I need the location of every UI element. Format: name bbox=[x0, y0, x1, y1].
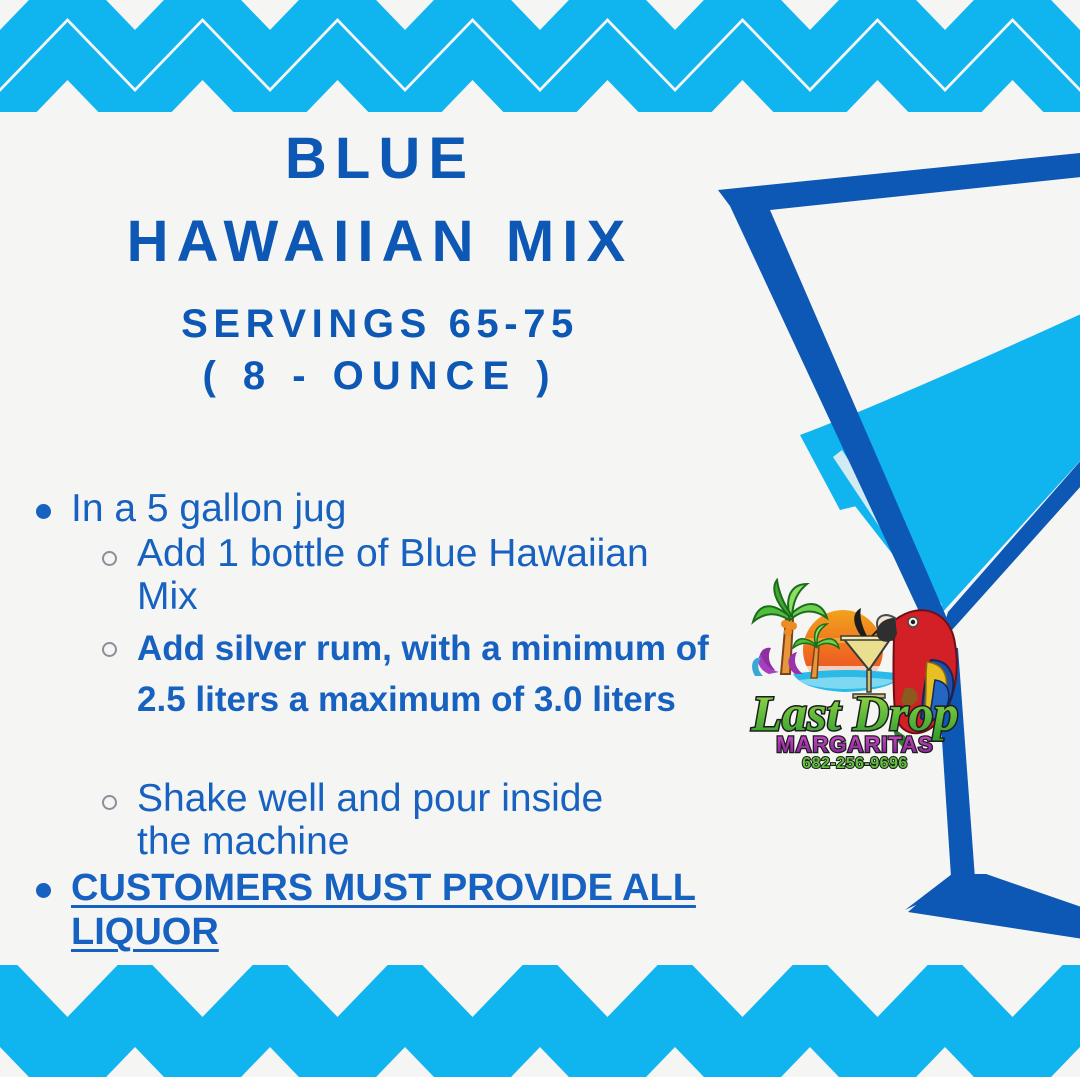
warning-line-2: LIQUOR bbox=[71, 911, 219, 953]
title-line-2: HAWAIIAN MIX bbox=[0, 211, 760, 272]
substep3-line1: Shake well and pour inside bbox=[137, 777, 603, 820]
substep-group: Add 1 bottle of Blue Hawaiian Mix Add si… bbox=[102, 533, 818, 864]
list-item-warning: CUSTOMERS MUST PROVIDE ALL LIQUOR bbox=[28, 866, 828, 955]
bullet-ring-icon bbox=[102, 795, 117, 810]
substep3-line2: the machine bbox=[137, 820, 349, 863]
title-line-1: BLUE bbox=[0, 128, 760, 189]
step1-text: In a 5 gallon jug bbox=[71, 487, 346, 531]
servings-label: SERVINGS 65-75 bbox=[0, 299, 760, 349]
list-item-substep1: Add 1 bottle of Blue Hawaiian Mix bbox=[102, 533, 818, 619]
serving-size-label: ( 8 - OUNCE ) bbox=[0, 349, 760, 403]
brand-logo: Last Drop MARGARITAS 682-256-9696 bbox=[745, 578, 965, 770]
chevron-border-bottom bbox=[0, 965, 1080, 1077]
list-item-substep3: Shake well and pour inside the machine bbox=[102, 778, 818, 864]
bullet-disc-icon bbox=[36, 883, 51, 898]
svg-text:682-256-9696: 682-256-9696 bbox=[802, 755, 908, 770]
poster-canvas: BLUE HAWAIIAN MIX SERVINGS 65-75 ( 8 - O… bbox=[0, 0, 1080, 1077]
list-item-substep2: Add silver rum, with a minimum of 2.5 li… bbox=[102, 624, 818, 726]
page-title: BLUE HAWAIIAN MIX SERVINGS 65-75 ( 8 - O… bbox=[0, 128, 760, 403]
logo-phone-text: 682-256-9696 bbox=[802, 755, 908, 770]
substep2-line1: Add silver rum, with a minimum of bbox=[137, 629, 709, 668]
chevron-border-top bbox=[0, 0, 1080, 112]
warning-line-1: CUSTOMERS MUST PROVIDE ALL bbox=[71, 867, 696, 909]
list-item-step1: In a 5 gallon jug bbox=[28, 487, 818, 531]
instruction-list: In a 5 gallon jug Add 1 bottle of Blue H… bbox=[28, 487, 818, 864]
substep1-line1: Add 1 bottle of Blue Hawaiian bbox=[137, 532, 649, 575]
svg-text:MARGARITAS: MARGARITAS bbox=[776, 732, 933, 757]
logo-subtitle-text: MARGARITAS bbox=[776, 732, 933, 757]
bullet-ring-icon bbox=[102, 642, 117, 657]
substep2-line2: 2.5 liters a maximum of 3.0 liters bbox=[137, 680, 676, 719]
bullet-disc-icon bbox=[36, 504, 51, 519]
substep1-line2: Mix bbox=[137, 575, 198, 618]
bullet-ring-icon bbox=[102, 551, 117, 566]
